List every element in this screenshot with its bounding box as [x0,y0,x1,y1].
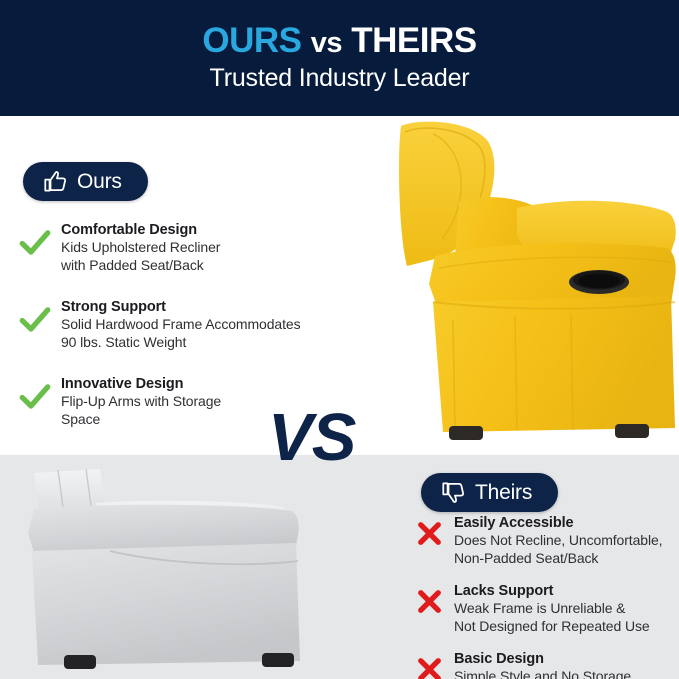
theirs-badge-label: Theirs [475,481,532,505]
cross-icon [414,518,445,549]
list-item: Lacks Support Weak Frame is Unreliable &… [414,581,679,636]
check-icon [18,226,52,260]
comparison-infographic: OURS vs THEIRS Trusted Industry Leader [0,0,679,679]
page-subtitle: Trusted Industry Leader [210,65,470,93]
cross-icon [414,586,445,617]
feature-title: Innovative Design [61,375,221,393]
feature-desc: Solid Hardwood Frame Accommodates 90 lbs… [61,316,300,352]
thumbs-up-icon [43,169,68,194]
ours-badge: Ours [23,162,148,201]
title-vs-word: vs [311,27,342,59]
ours-product-image [399,116,679,455]
feature-title: Comfortable Design [61,221,220,239]
theirs-badge: Theirs [421,473,558,512]
feature-text: Comfortable Design Kids Upholstered Recl… [61,220,220,275]
feature-title: Strong Support [61,298,300,316]
check-icon [18,303,52,337]
feature-desc: Simple Style and No Storage Space [454,668,631,679]
feature-text: Easily Accessible Does Not Recline, Unco… [454,513,662,568]
ours-badge-label: Ours [77,170,122,194]
page-title: OURS vs THEIRS [202,23,476,60]
feature-title: Easily Accessible [454,514,662,532]
title-ours-word: OURS [202,21,301,60]
list-item: Easily Accessible Does Not Recline, Unco… [414,513,679,568]
list-item: Basic Design Simple Style and No Storage… [414,649,679,679]
feature-title: Basic Design [454,650,631,668]
header-banner: OURS vs THEIRS Trusted Industry Leader [0,0,679,116]
feature-desc: Kids Upholstered Recliner with Padded Se… [61,239,220,275]
feature-desc: Does Not Recline, Uncomfortable, Non-Pad… [454,532,662,568]
check-icon [18,380,52,414]
cross-icon [414,654,445,679]
title-theirs-word: THEIRS [351,21,476,60]
thumbs-down-icon [441,480,466,505]
theirs-feature-list: Easily Accessible Does Not Recline, Unco… [414,513,679,679]
feature-text: Lacks Support Weak Frame is Unreliable &… [454,581,650,636]
list-item: Comfortable Design Kids Upholstered Recl… [18,220,358,275]
list-item: Innovative Design Flip-Up Arms with Stor… [18,374,358,429]
feature-text: Strong Support Solid Hardwood Frame Acco… [61,297,300,352]
feature-title: Lacks Support [454,582,650,600]
theirs-product-image [0,455,320,679]
list-item: Strong Support Solid Hardwood Frame Acco… [18,297,358,352]
feature-text: Basic Design Simple Style and No Storage… [454,649,631,679]
feature-text: Innovative Design Flip-Up Arms with Stor… [61,374,221,429]
feature-desc: Flip-Up Arms with Storage Space [61,393,221,429]
ours-feature-list: Comfortable Design Kids Upholstered Recl… [18,220,358,429]
feature-desc: Weak Frame is Unreliable & Not Designed … [454,600,650,636]
